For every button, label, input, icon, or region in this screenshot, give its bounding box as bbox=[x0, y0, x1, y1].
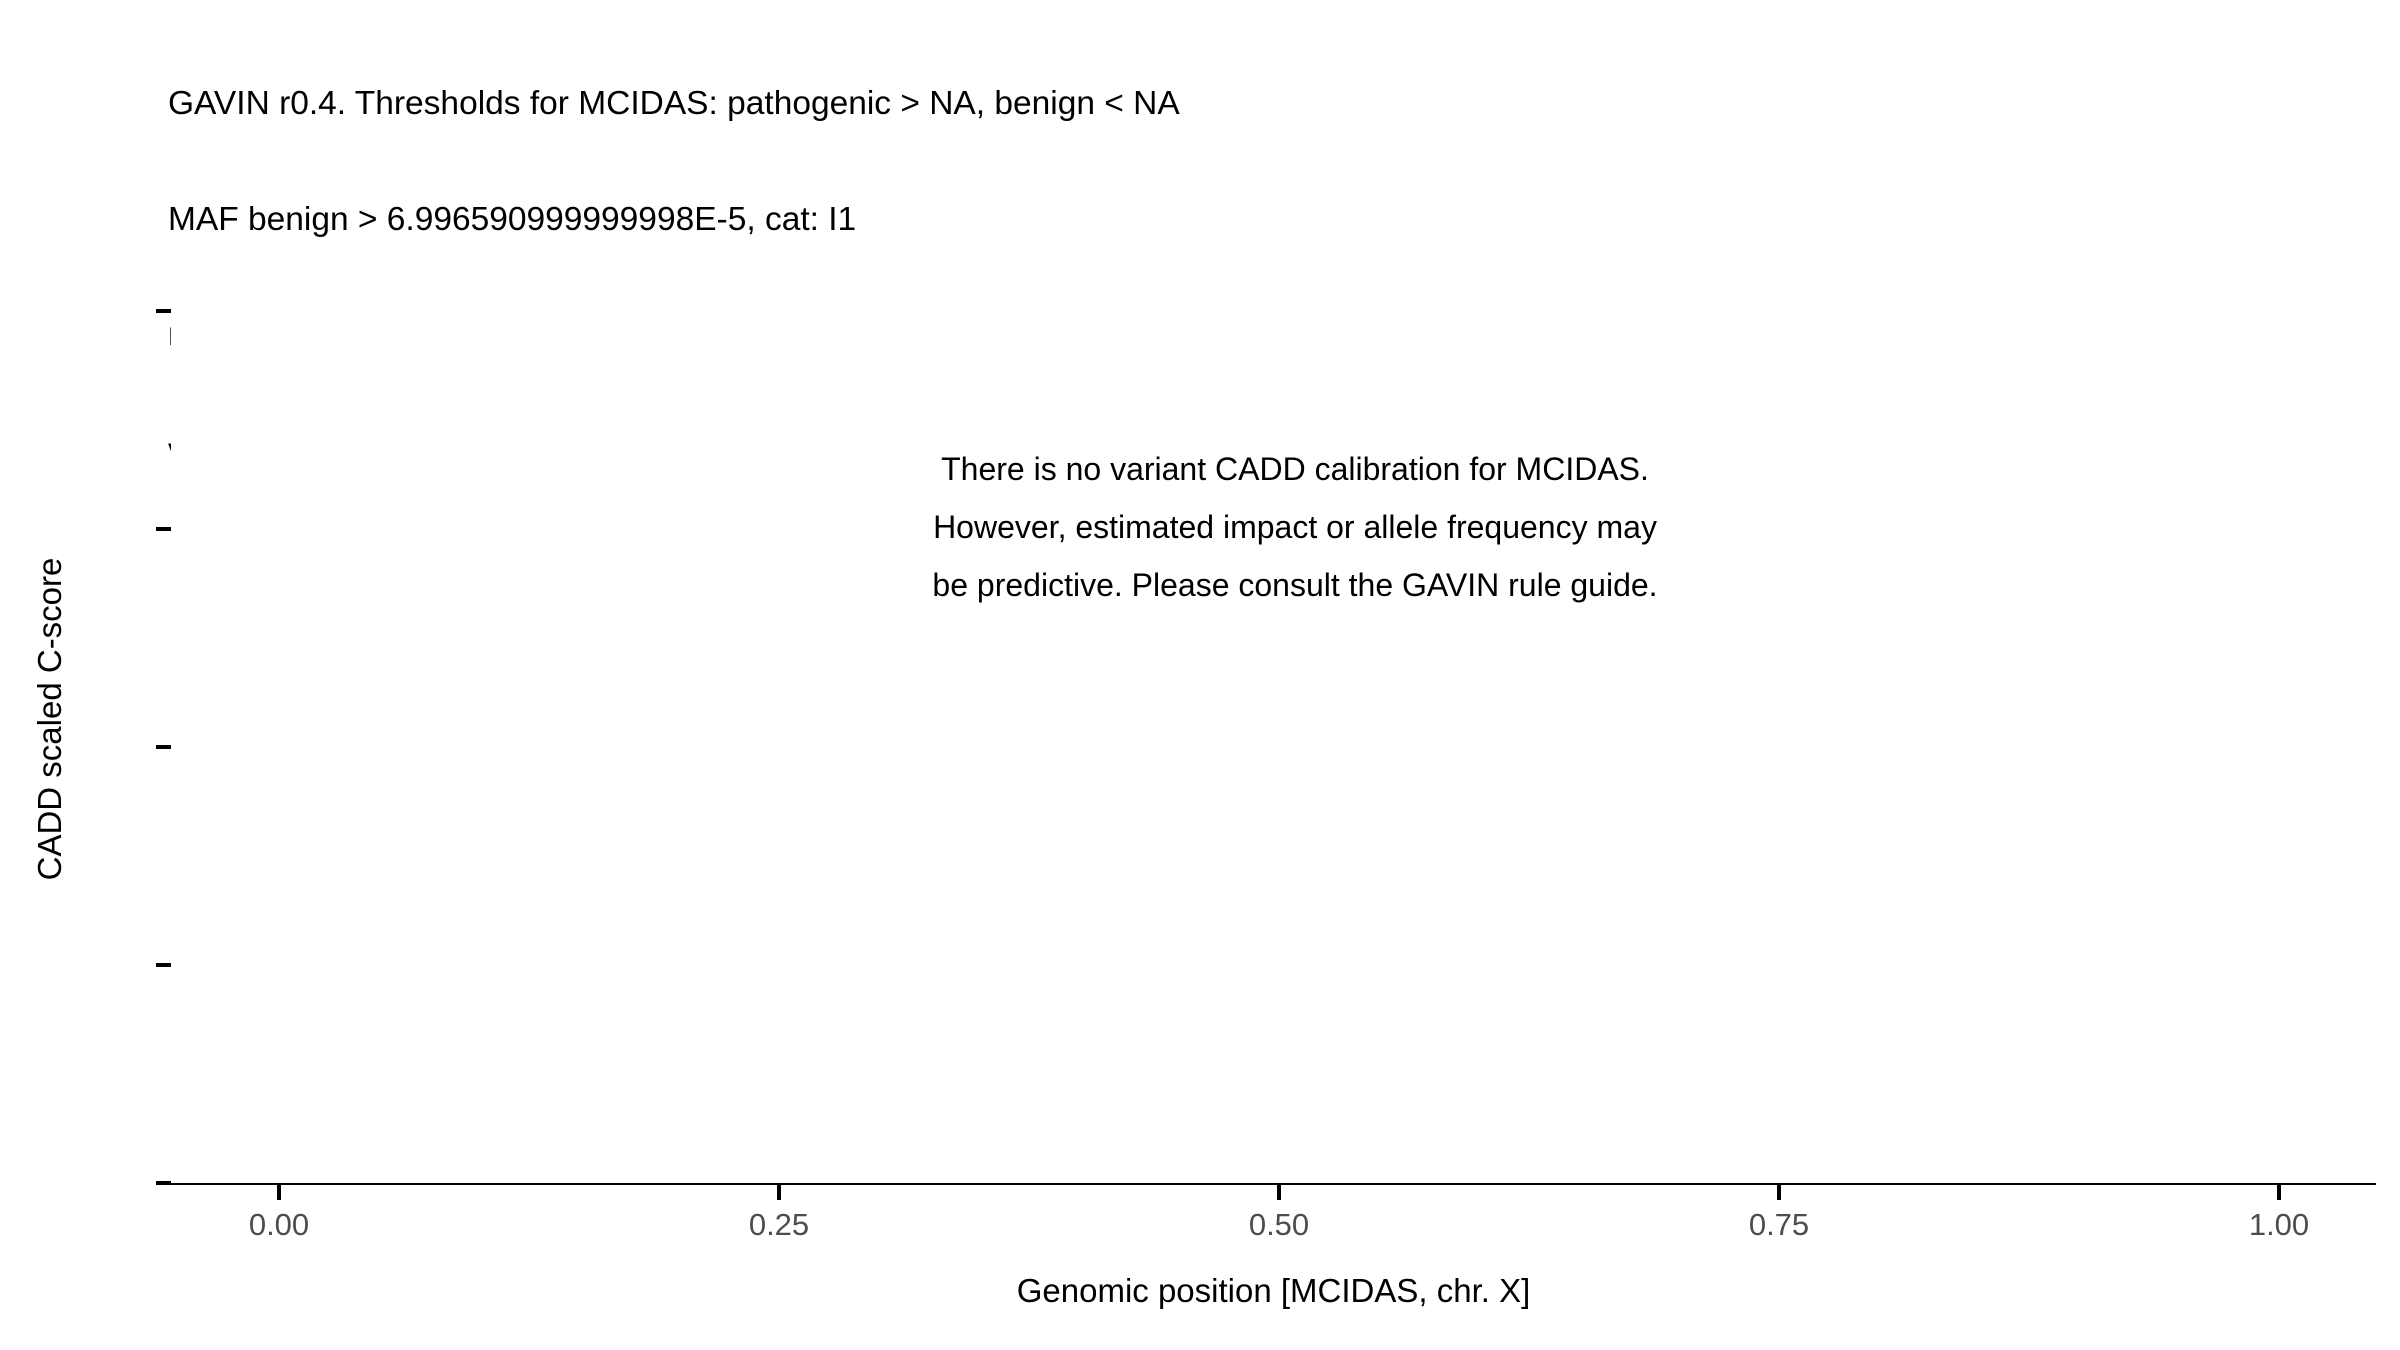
x-tick-mark bbox=[2277, 1185, 2281, 1200]
plot-canvas: GAVIN r0.4. Thresholds for MCIDAS: patho… bbox=[0, 0, 2400, 1350]
x-tick-label: 0.50 bbox=[1179, 1208, 1379, 1242]
x-axis-title: Genomic position [MCIDAS, chr. X] bbox=[171, 1272, 2376, 1310]
x-tick-label: 0.75 bbox=[1679, 1208, 1879, 1242]
x-tick-mark bbox=[277, 1185, 281, 1200]
x-tick-label: 0.00 bbox=[179, 1208, 379, 1242]
x-tick-mark bbox=[1777, 1185, 1781, 1200]
x-tick-label: 0.25 bbox=[679, 1208, 879, 1242]
x-axis-ticks: 0.00 0.25 0.50 0.75 1.00 bbox=[0, 0, 2400, 1350]
x-tick-label: 1.00 bbox=[2179, 1208, 2379, 1242]
x-tick-mark bbox=[1277, 1185, 1281, 1200]
x-tick-mark bbox=[777, 1185, 781, 1200]
